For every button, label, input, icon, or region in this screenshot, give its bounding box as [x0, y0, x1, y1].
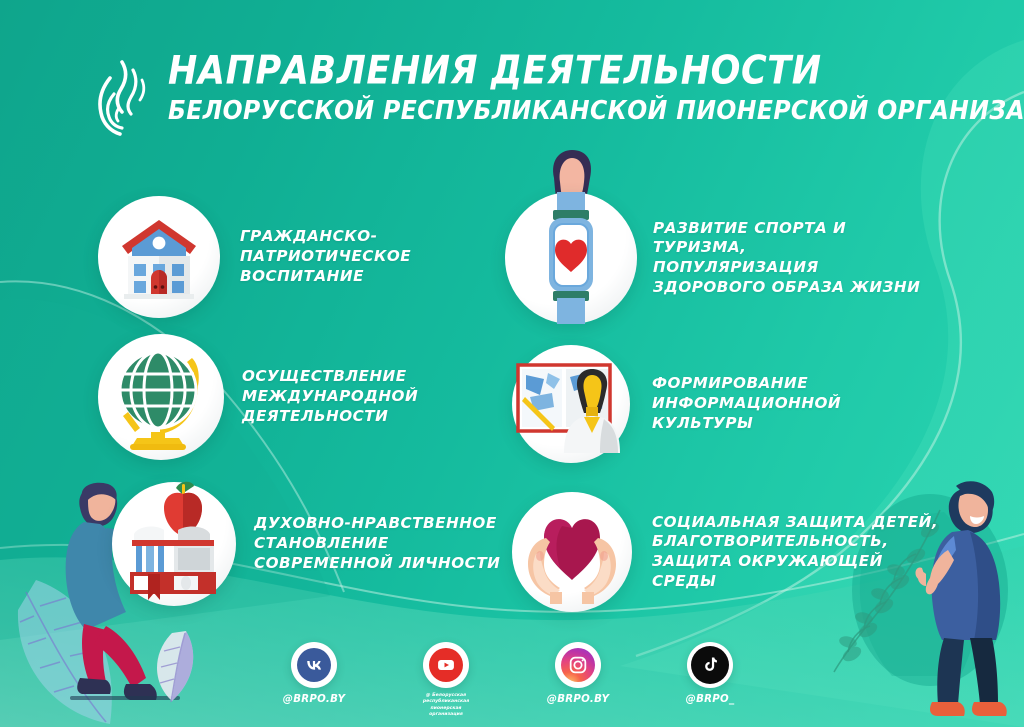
social-link-youtube[interactable]: @ Белорусская республиканская пионерская… — [403, 642, 489, 719]
item-caption: Формирование информационной культуры — [652, 374, 932, 433]
item-spiritual-moral-development: Духовно-нравственное становление совреме… — [112, 482, 524, 606]
page-title: Направления деятельности — [168, 52, 1024, 92]
item-social-protection-charity-ecology: Социальная защита детей, благотворительн… — [512, 492, 952, 612]
item-international-activity: Осуществление международной деятельности — [98, 334, 527, 460]
smartwatch-heart-icon — [505, 192, 637, 324]
instagram-icon[interactable] — [555, 642, 601, 688]
item-civic-patriotic: Гражданско-патриотическое воспитание — [98, 196, 520, 318]
tiktok-icon[interactable] — [687, 642, 733, 688]
social-link-instagram[interactable]: @BRPO.BY — [535, 642, 621, 705]
page-subtitle: Белорусской республиканской пионерской о… — [168, 97, 1024, 124]
item-caption: Гражданско-патриотическое воспитание — [240, 227, 520, 286]
books-apple-icon — [112, 482, 236, 606]
brpo-flame-logo-icon — [92, 56, 154, 138]
social-label: @BRPO.BY — [283, 694, 346, 705]
item-sport-tourism-health: Развитие спорта и туризма, популяризация… — [505, 192, 943, 324]
whiteboard-teacher-icon — [512, 345, 630, 463]
item-caption: Осуществление международной деятельности — [242, 367, 527, 426]
social-label: @BRPO_ — [686, 694, 735, 705]
header: Направления деятельности Белорусской рес… — [92, 52, 1024, 138]
social-label: @ Белорусская республиканская пионерская… — [423, 693, 469, 719]
social-link-vk[interactable]: @BRPO.BY — [271, 642, 357, 705]
social-links-bar: @BRPO.BY @ Белорусская республиканская п… — [0, 642, 1024, 719]
hands-heart-icon — [512, 492, 632, 612]
youtube-icon[interactable] — [423, 642, 469, 688]
item-information-culture: Формирование информационной культуры — [512, 345, 932, 463]
vk-icon[interactable] — [291, 642, 337, 688]
item-caption: Социальная защита детей, благотворительн… — [652, 513, 952, 592]
school-building-icon — [98, 196, 220, 318]
item-caption: Духовно-нравственное становление совреме… — [254, 514, 524, 573]
globe-icon — [98, 334, 224, 460]
social-label: @BRPO.BY — [547, 694, 610, 705]
item-caption: Развитие спорта и туризма, популяризация… — [653, 219, 943, 298]
social-link-tiktok[interactable]: @BRPO_ — [667, 642, 753, 705]
infographic-poster: Направления деятельности Белорусской рес… — [0, 0, 1024, 727]
